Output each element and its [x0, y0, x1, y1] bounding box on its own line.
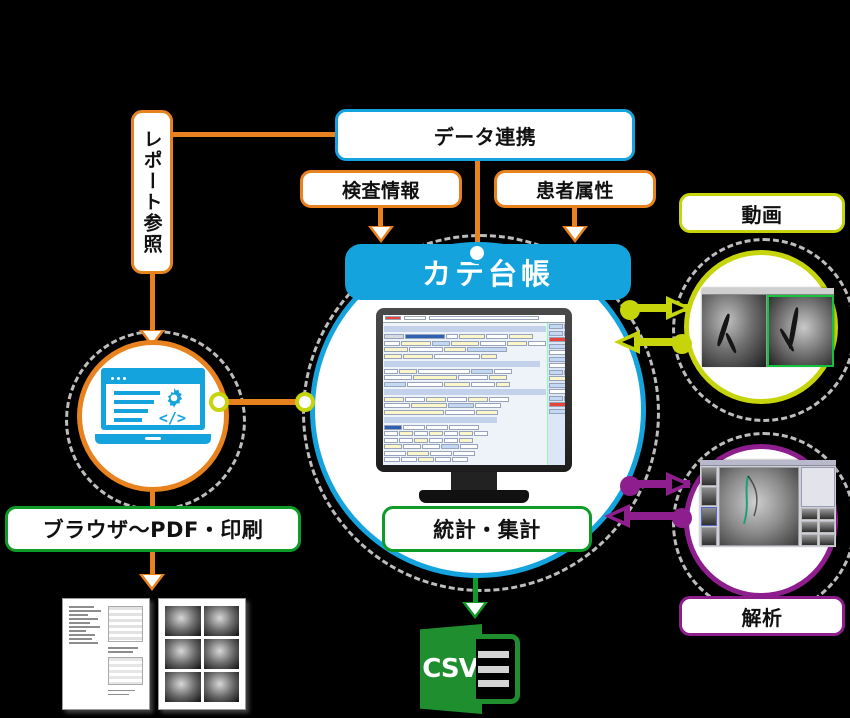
connector-knob-center-left — [295, 392, 315, 412]
angio-frame-right — [767, 295, 835, 367]
line-exam-down — [378, 205, 383, 227]
node-report-reference[interactable]: レポート参照 — [131, 110, 173, 274]
analysis-main-view — [719, 467, 799, 546]
node-patient-attribute-label: 患者属性 — [536, 176, 614, 203]
angio-thumb — [165, 672, 201, 702]
node-video-label: 動画 — [742, 199, 783, 228]
analysis-thumbnail-strip — [700, 466, 718, 547]
app-sidebar-buttons — [547, 323, 565, 465]
node-browser-pdf-print-label: ブラウザ〜PDF・印刷 — [43, 514, 264, 544]
laptop-text-lines — [114, 391, 160, 427]
monitor-bezel — [376, 308, 572, 472]
app-form-area — [383, 323, 547, 465]
analysis-side-panels — [800, 466, 836, 547]
video-arrow-out — [664, 294, 694, 322]
video-arrow-in — [612, 328, 642, 356]
angio-thumb — [165, 606, 201, 636]
app-toolbar — [383, 315, 565, 323]
node-video[interactable]: 動画 — [679, 193, 845, 233]
arrow-patient-to-center — [562, 226, 588, 243]
angio-thumb — [204, 639, 240, 669]
laptop-base — [95, 434, 211, 444]
laptop-screen: </> — [101, 368, 205, 430]
node-exam-info[interactable]: 検査情報 — [300, 170, 462, 208]
connector-knob-laptop — [209, 392, 229, 412]
angio-thumb — [204, 606, 240, 636]
ledger-title-banner: カテ台帳 — [345, 244, 631, 300]
line-report-to-linkage — [170, 132, 340, 137]
laptop-titlebar — [106, 373, 200, 384]
node-statistics-label: 統計・集計 — [433, 514, 541, 544]
angio-frame-left — [702, 295, 767, 367]
node-patient-attribute[interactable]: 患者属性 — [494, 170, 656, 208]
line-patient-down — [572, 205, 577, 227]
desktop-monitor-icon — [376, 308, 572, 506]
diagram-canvas: カテ台帳 データ連携 検査情報 患者属性 レポート参照 </> — [0, 0, 850, 718]
angiography-viewer-icon — [702, 288, 834, 366]
line-report-down — [150, 272, 155, 332]
csv-label-block: CSV — [420, 624, 482, 714]
monitor-neck — [451, 472, 497, 492]
report-document-paper — [62, 598, 150, 710]
image-document-paper — [158, 598, 246, 710]
analysis-arrow-in — [602, 502, 632, 530]
line-linkage-down — [475, 160, 480, 250]
node-exam-info-label: 検査情報 — [342, 176, 420, 203]
laptop-code-icon: </> — [95, 368, 211, 444]
connector-knob-center-top — [466, 242, 488, 264]
node-analysis-label: 解析 — [742, 602, 783, 631]
monitor-screen — [383, 315, 565, 465]
arrow-stats-to-csv — [462, 602, 488, 619]
angio-thumb — [204, 672, 240, 702]
node-analysis[interactable]: 解析 — [679, 596, 845, 636]
code-brackets-icon: </> — [159, 409, 186, 427]
csv-file-icon: CSV — [420, 624, 522, 714]
csv-rows-block — [476, 634, 520, 704]
monitor-base — [419, 490, 529, 503]
node-report-reference-label: レポート参照 — [139, 129, 166, 255]
arrow-browser-to-papers — [139, 574, 165, 591]
node-data-linkage[interactable]: データ連携 — [335, 109, 635, 161]
node-statistics-aggregation[interactable]: 統計・集計 — [382, 506, 592, 552]
line-browser-down — [150, 552, 155, 576]
node-data-linkage-label: データ連携 — [434, 121, 537, 150]
node-browser-pdf-print[interactable]: ブラウザ〜PDF・印刷 — [5, 506, 301, 552]
analysis-arrow-out — [664, 470, 694, 498]
image-grid — [165, 606, 239, 702]
ledger-title-label: カテ台帳 — [422, 251, 554, 293]
arrow-exam-to-center — [368, 226, 394, 243]
angio-titlebar — [702, 288, 834, 295]
angio-thumb — [165, 639, 201, 669]
qca-analysis-window-icon — [700, 460, 836, 546]
csv-label: CSV — [422, 654, 477, 684]
